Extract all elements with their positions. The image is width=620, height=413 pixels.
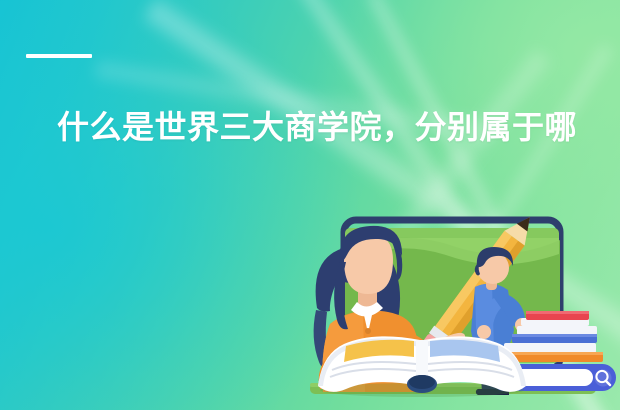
page-title: 什么是世界三大商学院，分别属于哪 — [57, 104, 605, 150]
online-education-illustration — [288, 198, 620, 410]
title-underline-dash — [26, 54, 92, 58]
article-cover-banner: 什么是世界三大商学院，分别属于哪 — [0, 0, 620, 413]
open-book — [318, 336, 526, 397]
magnifier-icon — [595, 370, 612, 387]
